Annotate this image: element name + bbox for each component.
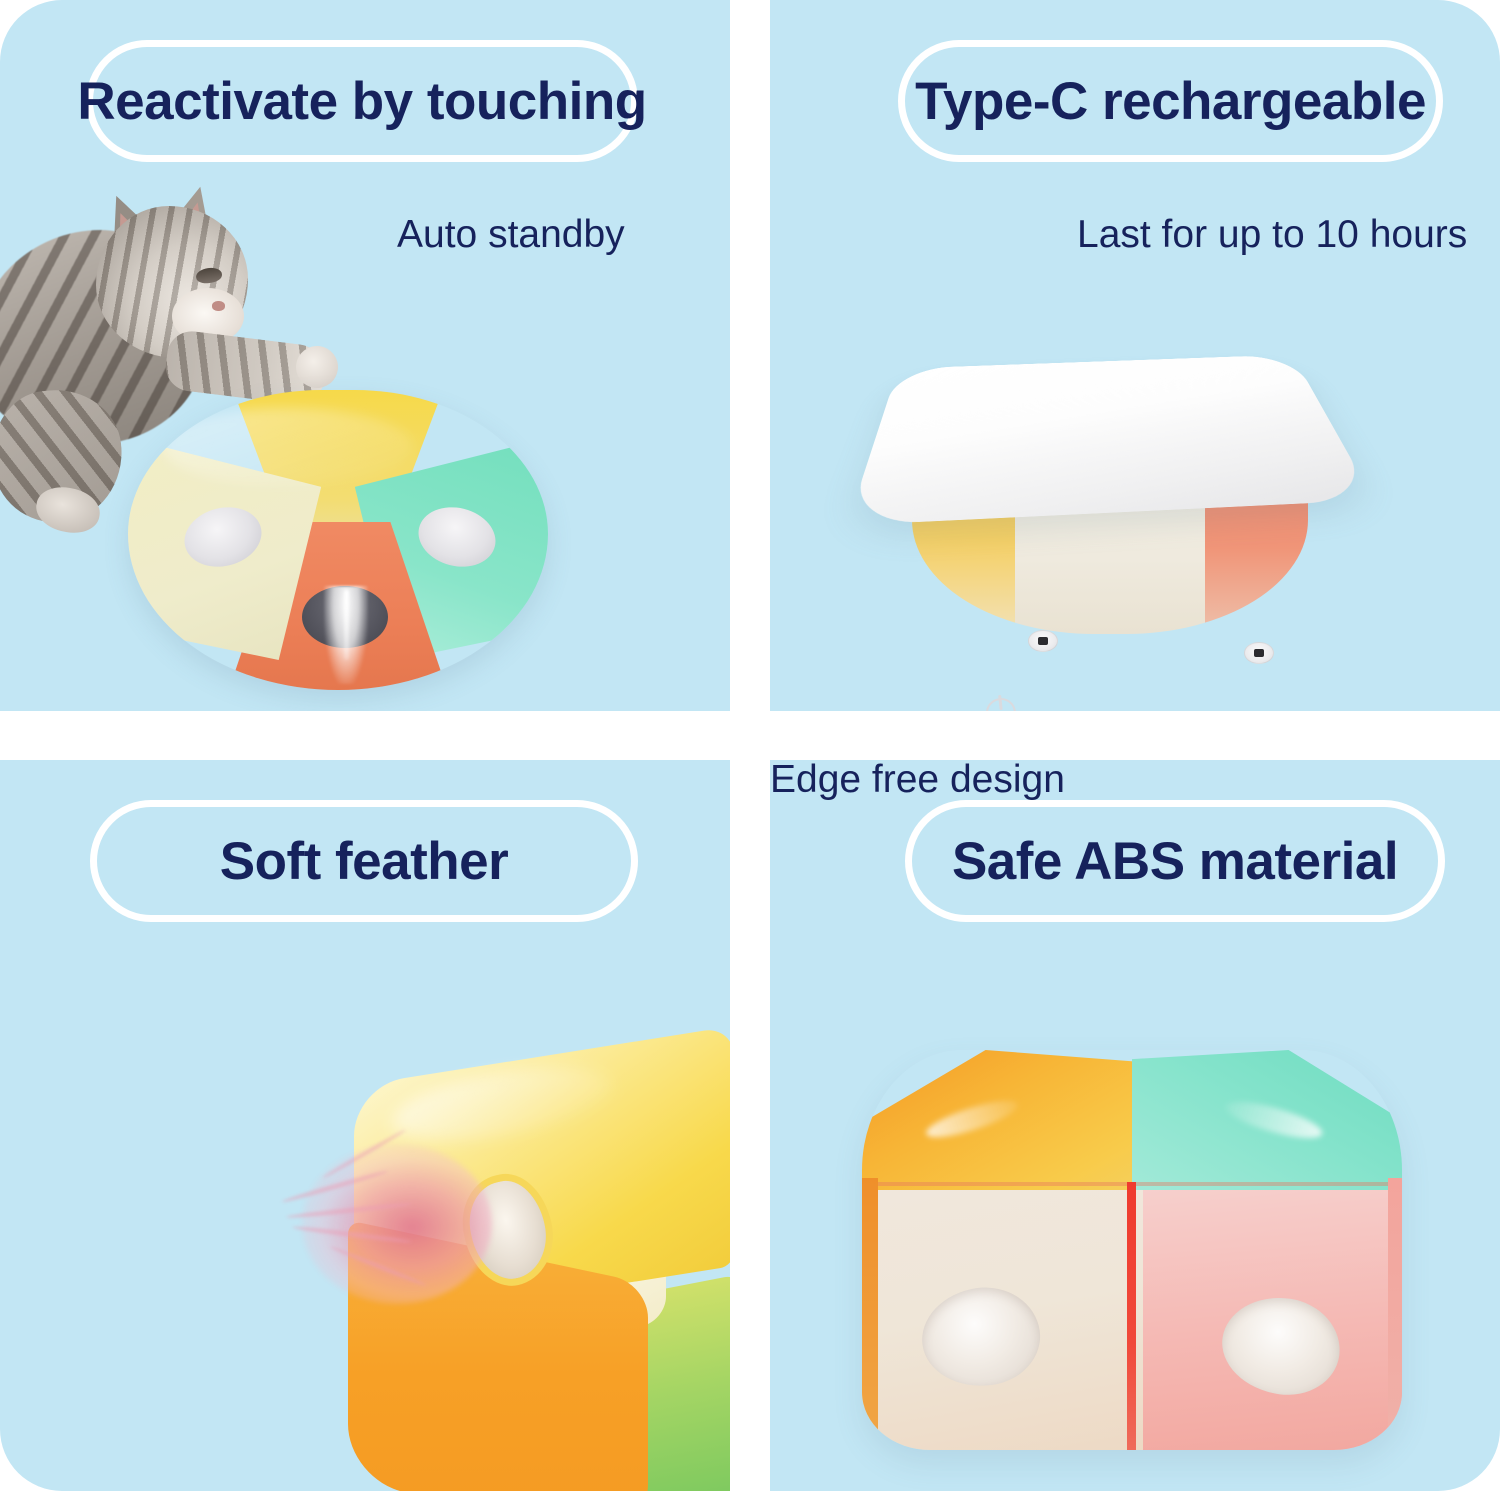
cat-ear-right	[164, 181, 223, 243]
toy-highlight-right	[1223, 1095, 1326, 1146]
pink-feather	[302, 1144, 492, 1304]
feature-title-badge-type-c: Type-C rechargeable	[898, 40, 1443, 162]
toy-shell	[128, 390, 548, 690]
cat-ear-inner-right	[178, 199, 210, 234]
cat-front-paw	[163, 328, 329, 407]
feather-wisp	[286, 1201, 412, 1219]
feature-subtitle-auto-standby: Auto standby	[397, 215, 625, 254]
feature-title-badge-safe-abs: Safe ABS material	[905, 800, 1445, 922]
toy-white-base-plate	[847, 355, 1374, 526]
cat-paw-tip	[294, 344, 341, 391]
toy-hole	[453, 1166, 562, 1294]
toy-panel-cream	[862, 1190, 1143, 1450]
toy-panel-mint	[1132, 1050, 1402, 1202]
toy-red-divider	[1127, 1182, 1136, 1450]
toy-highlight	[162, 408, 414, 486]
toy-hole-left	[916, 1280, 1046, 1393]
toy-panel-pink	[1143, 1190, 1402, 1450]
feather-wisp	[329, 1245, 427, 1288]
toy-edge-cream	[570, 1230, 666, 1337]
toy-shell	[862, 1050, 1402, 1450]
toy-side-coral	[1205, 444, 1308, 634]
toy-face-green	[614, 1273, 730, 1491]
feature-panel-safe-abs-material: Safe ABS material Edge free design	[770, 760, 1500, 1491]
toy-face-yellow	[354, 1026, 730, 1326]
toy-colored-body	[912, 444, 1308, 634]
toy-horizontal-seam	[862, 1182, 1402, 1186]
feature-title-badge-soft-feather: Soft feather	[90, 800, 638, 922]
toy-quadrant-coral	[229, 522, 447, 690]
feature-panel-type-c-rechargeable: Type-C rechargeable Last for up to 10 ho…	[770, 0, 1500, 711]
cat-ear-inner-left	[108, 208, 143, 246]
toy-side-cream	[1015, 444, 1205, 634]
product-feature-infographic: Reactivate by touching Auto standby	[0, 0, 1500, 1491]
toy-quadrant-mint	[355, 438, 548, 660]
feature-title-text: Reactivate by touching	[77, 75, 646, 128]
toy-quadrant-cream	[128, 438, 321, 660]
cat-muzzle	[172, 288, 244, 344]
cat-hind-foot	[33, 483, 104, 537]
feature-subtitle-edge-free: Edge free design	[770, 760, 1065, 799]
cat-toy-front-view	[862, 1050, 1402, 1450]
power-button-icon	[985, 697, 1018, 711]
screw-top-left	[1028, 630, 1058, 652]
toy-hole-right	[1216, 1290, 1346, 1401]
cat-nose	[212, 301, 225, 311]
cat-body	[0, 230, 204, 445]
feather-wisp	[292, 1225, 412, 1245]
feature-title-text: Soft feather	[220, 835, 508, 888]
feather-wisp	[321, 1128, 406, 1179]
toy-face-orange	[348, 1220, 648, 1491]
cat-head	[96, 206, 248, 358]
feature-title-text: Safe ABS material	[952, 835, 1398, 888]
feature-subtitle-battery-life: Last for up to 10 hours	[1077, 215, 1467, 254]
toy-hole-bottom	[302, 586, 388, 648]
cat-toy-top-view	[128, 390, 548, 690]
feather-wisp	[281, 1169, 388, 1204]
cat-toy-feather-macro	[262, 1056, 730, 1491]
cat-eye	[195, 266, 223, 284]
feature-title-badge-reactivate: Reactivate by touching	[86, 40, 638, 162]
toy-hole-left	[178, 499, 268, 574]
toy-hole-right	[412, 499, 502, 574]
toy-side-yellow	[912, 444, 1015, 634]
cat-hind-leg	[0, 384, 129, 529]
cat-ear-left	[94, 187, 158, 253]
toy-highlight-left	[923, 1094, 1021, 1145]
feature-panel-reactivate-by-touching: Reactivate by touching Auto standby	[0, 0, 730, 711]
cat-toy-underside	[880, 300, 1340, 670]
feature-panel-soft-feather: Soft feather 2 stustitute feathers	[0, 760, 730, 1491]
toy-quadrant-yellow	[233, 390, 443, 546]
toy-right-rim	[1388, 1178, 1402, 1450]
white-feather	[324, 586, 368, 684]
cat-illustration	[0, 200, 326, 540]
toy-highlight	[392, 1055, 612, 1154]
toy-left-rim	[862, 1178, 878, 1450]
toy-panel-orange	[862, 1050, 1143, 1202]
screw-top-right	[1244, 642, 1274, 664]
feature-title-text: Type-C rechargeable	[915, 75, 1426, 128]
